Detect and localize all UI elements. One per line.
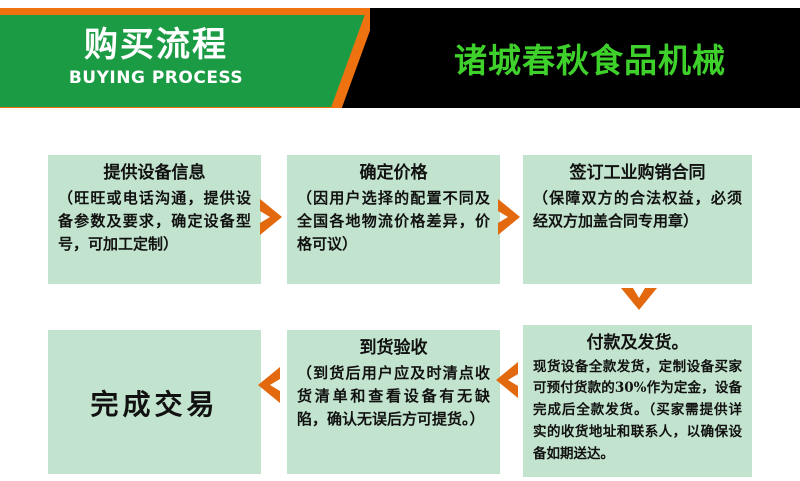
flow-step-confirm-price: 确定价格 （因用户选择的配置不同及全国各地物流价格差异，价格可议）	[287, 155, 500, 284]
flow-step-body: （到货后用户应及时清点收货清单和查看设备有无缺陷，确认无误后方可提货。）	[297, 362, 490, 432]
flow-step-body: （旺旺或电话沟通，提供设备参数及要求，确定设备型号，可加工定制）	[58, 187, 251, 257]
flow-step-title: 确定价格	[297, 161, 490, 187]
company-name-group: 诸城春秋食品机械	[380, 8, 800, 108]
header-title-group: 购买流程 BUYING PROCESS	[0, 8, 300, 108]
flow-step-body: 现货设备全款发货，定制设备买家可预付货款的30%作为定金，设备完成后全款发货。（…	[533, 357, 742, 466]
flow-step-title: 付款及发货。	[533, 331, 742, 357]
flow-step-body: （保障双方的合法权益，必须经双方加盖合同专用章）	[533, 187, 742, 234]
flow-step-title: 完成交易	[58, 336, 251, 470]
flow-step-title: 签订工业购销合同	[533, 161, 742, 187]
flow-step-title: 提供设备信息	[58, 161, 251, 187]
flow-step-sign-contract: 签订工业购销合同 （保障双方的合法权益，必须经双方加盖合同专用章）	[523, 155, 752, 284]
flow-step-arrival-inspection: 到货验收 （到货后用户应及时清点收货清单和查看设备有无缺陷，确认无误后方可提货。…	[287, 330, 500, 474]
flow-step-payment-and-shipping: 付款及发货。 现货设备全款发货，定制设备买家可预付货款的30%作为定金，设备完成…	[523, 325, 752, 477]
page-header: 购买流程 BUYING PROCESS 诸城春秋食品机械	[0, 0, 800, 110]
flow-step-title: 到货验收	[297, 336, 490, 362]
flow-step-provide-equipment-info: 提供设备信息 （旺旺或电话沟通，提供设备参数及要求，确定设备型号，可加工定制）	[48, 155, 261, 284]
header-title-cn: 购买流程	[84, 28, 228, 64]
header-title-en: BUYING PROCESS	[69, 68, 243, 88]
buying-process-flow: 提供设备信息 （旺旺或电话沟通，提供设备参数及要求，确定设备型号，可加工定制） …	[0, 110, 800, 481]
flow-step-body: （因用户选择的配置不同及全国各地物流价格差异，价格可议）	[297, 187, 490, 257]
flow-step-transaction-complete: 完成交易	[48, 330, 261, 474]
company-name: 诸城春秋食品机械	[454, 34, 726, 82]
